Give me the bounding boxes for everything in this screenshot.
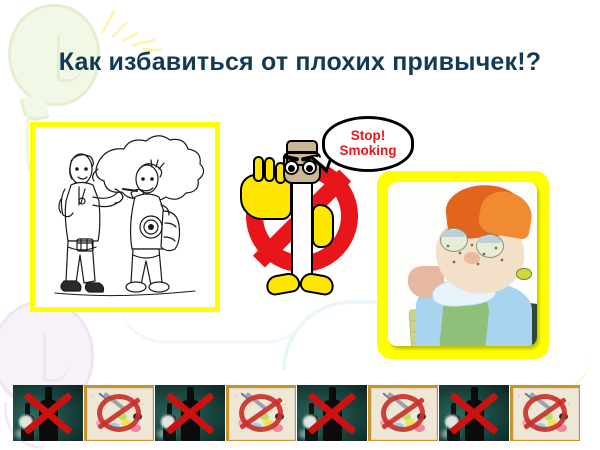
paper-background bbox=[87, 388, 153, 440]
no-alcohol-bottles-tile bbox=[13, 385, 83, 441]
fly-icon bbox=[516, 268, 532, 280]
picture-sick-boy bbox=[377, 171, 549, 359]
ray-line bbox=[132, 38, 156, 47]
picture-two-teens-smoking bbox=[30, 122, 220, 312]
ray-line bbox=[111, 21, 128, 39]
ray-line bbox=[121, 31, 138, 43]
ray-line bbox=[101, 10, 116, 34]
shoe-left bbox=[265, 271, 302, 297]
no-drugs-tile bbox=[510, 385, 580, 441]
speech-bubble: Stop! Smoking bbox=[322, 116, 414, 172]
red-x-icon bbox=[163, 391, 217, 435]
hand-finger bbox=[264, 157, 275, 182]
slide-canvas: Как избавиться от плохих привычек!? bbox=[0, 0, 600, 450]
cigarette-body bbox=[291, 178, 313, 286]
red-x-icon bbox=[305, 391, 359, 435]
paper-background bbox=[229, 388, 295, 440]
red-x-icon bbox=[21, 391, 75, 435]
boy-eyelid-left bbox=[441, 230, 465, 237]
paper-background bbox=[513, 388, 579, 440]
hand-finger bbox=[253, 156, 264, 182]
cigarette-right-arm bbox=[312, 204, 334, 248]
bubble-line-1: Stop! bbox=[351, 129, 386, 144]
two-teens-smoking-svg bbox=[35, 127, 215, 307]
bad-habits-icon-strip bbox=[13, 385, 582, 441]
red-x-icon bbox=[447, 391, 501, 435]
pupil-left bbox=[288, 165, 295, 172]
watercolor-canvas bbox=[388, 182, 537, 346]
no-drugs-tile bbox=[226, 385, 296, 441]
no-alcohol-bottles-tile bbox=[439, 385, 509, 441]
paper-background bbox=[371, 388, 437, 440]
bubble-line-2: Smoking bbox=[339, 144, 396, 159]
line-drawing-canvas bbox=[35, 127, 215, 307]
shoe-right bbox=[299, 271, 336, 297]
purple-balloon-highlight bbox=[43, 333, 72, 382]
boy-freckles bbox=[442, 242, 512, 272]
no-alcohol-bottles-tile bbox=[155, 385, 225, 441]
green-balloon-tail bbox=[20, 94, 50, 124]
no-drugs-tile bbox=[84, 385, 154, 441]
page-title: Как избавиться от плохих привычек!? bbox=[0, 48, 600, 77]
no-drugs-tile bbox=[368, 385, 438, 441]
no-alcohol-bottles-tile bbox=[297, 385, 367, 441]
